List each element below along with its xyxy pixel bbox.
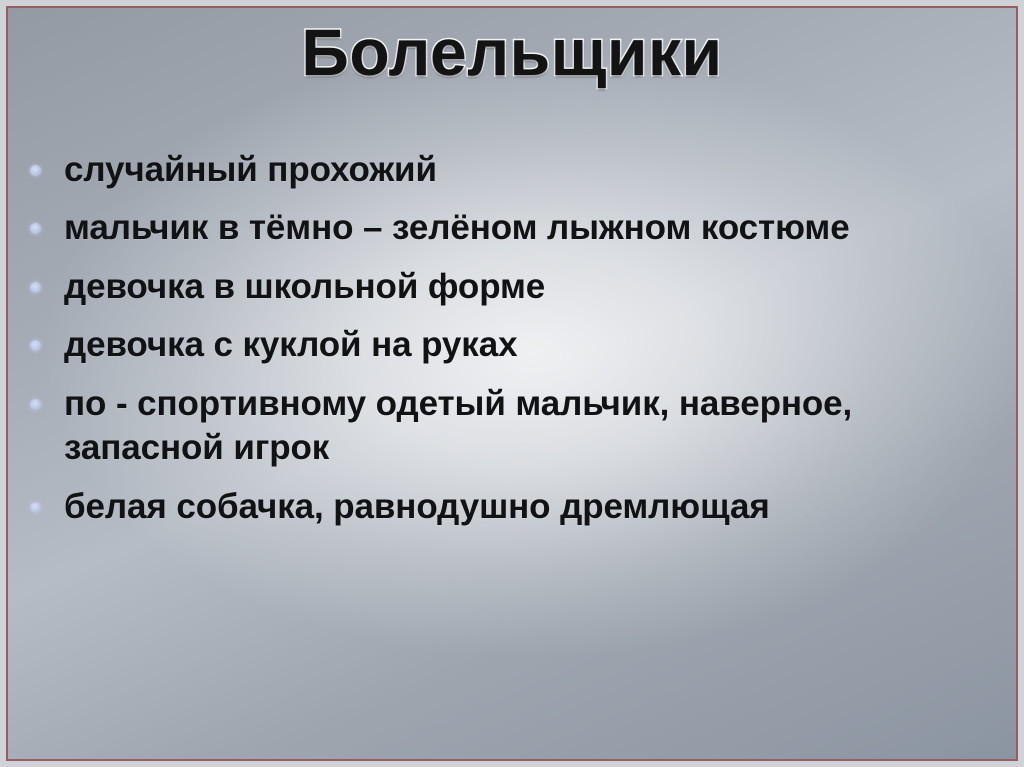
bullet-dot-icon	[30, 282, 41, 293]
list-item-text: девочка с куклой на руках	[64, 323, 1010, 367]
presentation-slide: Болельщики случайный прохожий мальчик в …	[0, 0, 1024, 767]
list-item: по - спортивному одетый мальчик, наверно…	[30, 382, 1010, 471]
bullet-dot-icon	[30, 340, 41, 351]
bullet-dot-icon	[30, 502, 41, 513]
bullet-dot-icon	[30, 165, 41, 176]
bullet-dot-icon	[30, 399, 41, 410]
list-item: мальчик в тёмно – зелёном лыжном костюме	[30, 206, 1010, 250]
list-item: девочка с куклой на руках	[30, 323, 1010, 367]
bullet-list: случайный прохожий мальчик в тёмно – зел…	[30, 148, 1010, 543]
list-item-text: случайный прохожий	[64, 148, 1010, 192]
slide-title: Болельщики	[0, 14, 1024, 91]
list-item: случайный прохожий	[30, 148, 1010, 192]
list-item-text: по - спортивному одетый мальчик, наверно…	[64, 382, 1010, 471]
bullet-dot-icon	[30, 223, 41, 234]
list-item-text: белая собачка, равнодушно дремлющая	[64, 485, 1010, 529]
list-item: девочка в школьной форме	[30, 265, 1010, 309]
list-item-text: девочка в школьной форме	[64, 265, 1010, 309]
list-item-text: мальчик в тёмно – зелёном лыжном костюме	[64, 206, 1010, 250]
list-item: белая собачка, равнодушно дремлющая	[30, 485, 1010, 529]
